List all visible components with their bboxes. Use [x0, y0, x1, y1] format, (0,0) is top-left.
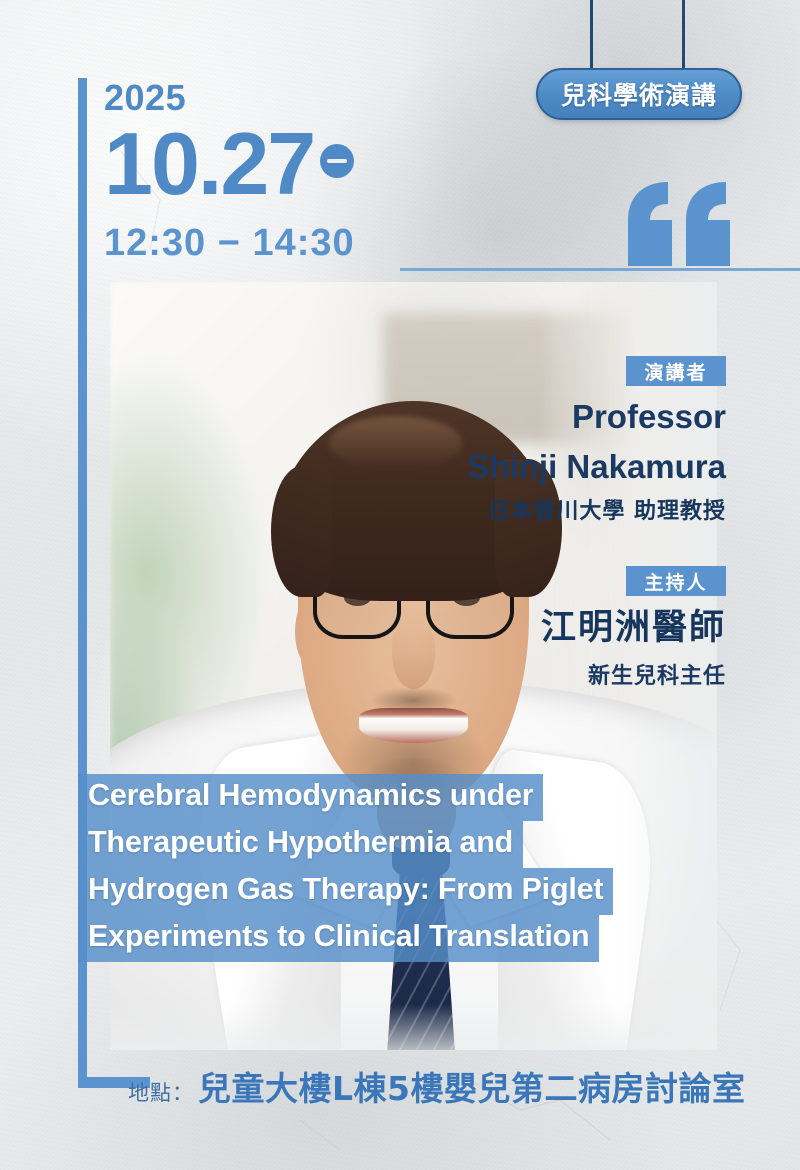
event-date-row: 10.27 — [104, 120, 524, 208]
location-row: 地點： 兒童大樓L棟5樓嬰兒第二病房討論室 — [128, 1062, 746, 1110]
location-value: 兒童大樓L棟5樓嬰兒第二病房討論室 — [198, 1062, 746, 1110]
speaker-title: Professor — [326, 400, 726, 435]
badge-hanger-line-left — [590, 0, 593, 74]
quote-open-icon — [624, 180, 734, 266]
speaker-name: Shinji Nakamura — [326, 450, 726, 485]
minus-circle-icon — [320, 144, 354, 178]
date-block: 2025 10.27 12:30 − 14:30 — [104, 80, 524, 262]
event-date: 10.27 — [104, 120, 314, 208]
talk-title-line: Therapeutic Hypothermia and — [78, 821, 523, 868]
host-name: 江明洲醫師 — [326, 610, 726, 647]
poster-canvas: 兒科學術演講 2025 10.27 12:30 − 14:30 — [0, 0, 800, 1170]
photo-moustache — [365, 685, 462, 716]
host-tag-label: 主持人 — [644, 568, 707, 595]
photo-hair-left — [271, 466, 332, 597]
badge-hanger-line-right — [682, 0, 685, 74]
event-year: 2025 — [104, 80, 524, 116]
host-affiliation: 新生兒科主任 — [326, 665, 726, 688]
speaker-affiliation: 日本香川大學 助理教授 — [326, 500, 726, 523]
header-divider-rule — [400, 268, 800, 271]
talk-title-line: Hydrogen Gas Therapy: From Piglet — [78, 868, 613, 915]
event-category-badge: 兒科學術演講 — [536, 68, 742, 120]
location-label: 地點： — [128, 1077, 194, 1107]
talk-title: Cerebral Hemodynamics under Therapeutic … — [78, 774, 678, 962]
photo-fade-bottom — [110, 1004, 717, 1050]
speaker-tag: 演講者 — [626, 356, 726, 386]
event-time: 12:30 − 14:30 — [104, 224, 524, 262]
talk-title-line: Experiments to Clinical Translation — [78, 915, 599, 962]
event-category-label: 兒科學術演講 — [561, 76, 717, 112]
talk-title-line: Cerebral Hemodynamics under — [78, 774, 543, 821]
host-tag: 主持人 — [626, 566, 726, 596]
speaker-tag-label: 演講者 — [644, 358, 707, 385]
